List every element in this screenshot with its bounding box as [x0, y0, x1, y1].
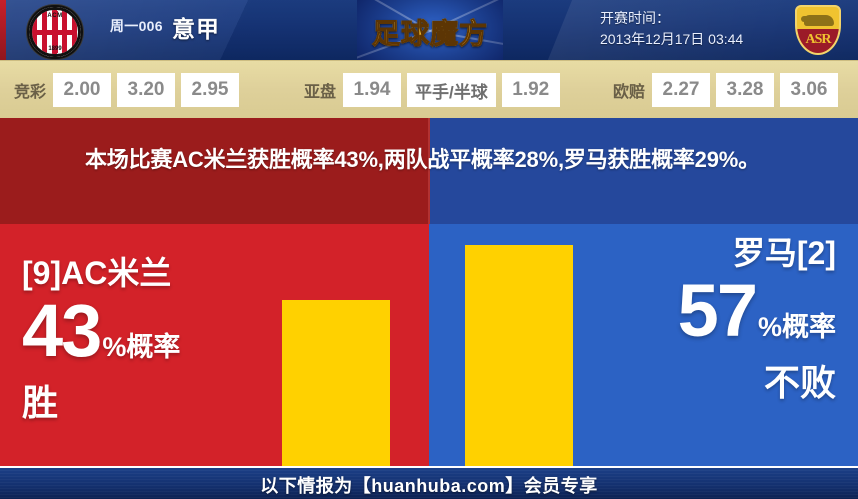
brand-logo-text: 足球魔方 — [357, 12, 503, 52]
odds-value-yapan-2[interactable]: 1.92 — [502, 73, 560, 107]
roma-shield: ASR — [795, 5, 841, 55]
crest-outer-ring — [29, 7, 81, 57]
as-roma-crest-icon: ASR — [795, 5, 841, 55]
odds-value-jingcai-2[interactable]: 3.20 — [117, 73, 175, 107]
odds-value-yapan-handicap[interactable]: 平手/半球 — [407, 73, 496, 107]
away-probability-bar — [465, 245, 573, 466]
odds-value-oupei-3[interactable]: 3.06 — [780, 73, 838, 107]
summary-text: 本场比赛AC米兰获胜概率43%,两队战平概率28%,罗马获胜概率29%。 — [85, 142, 785, 178]
away-outcome-label: 不败 — [576, 354, 836, 406]
header-left-red-stripe — [0, 0, 6, 60]
odds-value-yapan-1[interactable]: 1.94 — [343, 73, 401, 107]
away-team-name: 罗马[2] — [576, 234, 836, 272]
match-number: 周一006 — [110, 16, 163, 36]
odds-value-jingcai-3[interactable]: 2.95 — [181, 73, 239, 107]
header-bar: ACM 1899 周一006 意甲 足球魔方 开赛时间： 2013年12月17日… — [0, 0, 858, 60]
footer-bar: 以下情报为【huanhuba.com】会员专享 — [0, 466, 858, 499]
home-team-info: [9]AC米兰 43 %概率 胜 — [22, 254, 272, 426]
odds-label-jingcai: 竞彩 — [14, 78, 46, 102]
home-team-name: [9]AC米兰 — [22, 254, 272, 292]
away-probability-suffix: %概率 — [758, 314, 836, 341]
footer-text: 以下情报为【huanhuba.com】会员专享 — [260, 472, 598, 498]
away-probability-value: 57 — [678, 274, 756, 348]
odds-label-oupei: 欧赔 — [613, 78, 645, 102]
kickoff-time-block: 开赛时间： 2013年12月17日 03:44 — [600, 8, 785, 50]
away-probability-line: 57 %概率 — [576, 274, 836, 348]
home-probability-line: 43 %概率 — [22, 294, 272, 368]
brand-logo-panel: 足球魔方 — [357, 0, 503, 60]
kickoff-label: 开赛时间： — [600, 8, 785, 29]
roma-wolf-icon — [804, 15, 834, 26]
match-prediction-infographic: ACM 1899 周一006 意甲 足球魔方 开赛时间： 2013年12月17日… — [0, 0, 858, 499]
away-team-info: 罗马[2] 57 %概率 不败 — [576, 234, 836, 406]
odds-group-oupei: 欧赔 2.27 3.28 3.06 — [613, 61, 844, 119]
odds-group-jingcai: 竞彩 2.00 3.20 2.95 — [14, 61, 245, 119]
home-probability-bar — [282, 300, 390, 466]
odds-value-oupei-2[interactable]: 3.28 — [716, 73, 774, 107]
league-name: 意甲 — [172, 10, 220, 44]
odds-value-oupei-1[interactable]: 2.27 — [652, 73, 710, 107]
odds-value-jingcai-1[interactable]: 2.00 — [53, 73, 111, 107]
probability-chart: [9]AC米兰 43 %概率 胜 罗马[2] 57 %概率 不败 — [0, 224, 858, 466]
odds-label-yapan: 亚盘 — [304, 78, 336, 102]
home-probability-value: 43 — [22, 294, 100, 368]
roma-monogram: ASR — [797, 32, 839, 48]
home-outcome-label: 胜 — [22, 374, 272, 426]
odds-bar: 竞彩 2.00 3.20 2.95 亚盘 1.94 平手/半球 1.92 欧赔 … — [0, 60, 858, 119]
odds-group-yapan: 亚盘 1.94 平手/半球 1.92 — [304, 61, 566, 119]
kickoff-value: 2013年12月17日 03:44 — [600, 29, 785, 50]
ac-milan-crest-icon: ACM 1899 — [27, 5, 83, 59]
home-probability-suffix: %概率 — [102, 334, 180, 361]
summary-band: 本场比赛AC米兰获胜概率43%,两队战平概率28%,罗马获胜概率29%。 — [0, 118, 858, 224]
